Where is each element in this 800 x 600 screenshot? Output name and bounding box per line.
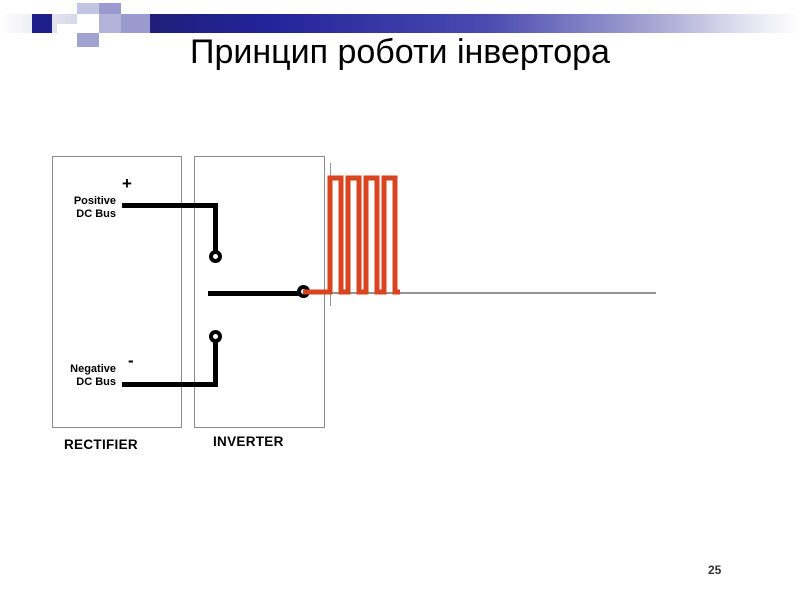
wire-negative-vertical (213, 336, 218, 387)
positive-dc-bus-label-line1: Positive (56, 195, 116, 208)
negative-dc-bus-label-line1: Negative (56, 363, 116, 376)
wire-positive-vertical (213, 203, 218, 256)
positive-dc-bus-label-line2: DC Bus (56, 208, 116, 221)
page-number: 25 (708, 563, 721, 577)
wire-output-horizontal (208, 291, 303, 296)
wire-positive-horizontal (122, 203, 218, 208)
terminal-node-positive (209, 250, 222, 263)
plus-sign-icon: + (122, 175, 132, 192)
terminal-node-negative (209, 330, 222, 343)
positive-dc-bus-label: Positive DC Bus (56, 195, 116, 221)
pwm-output-waveform (300, 170, 400, 300)
pwm-waveform-path (303, 178, 400, 292)
wire-negative-horizontal (122, 382, 218, 387)
inverter-principle-diagram: Positive DC Bus Negative DC Bus + - RECT… (0, 0, 800, 600)
minus-sign-icon: - (128, 352, 134, 369)
inverter-caption: INVERTER (213, 434, 284, 449)
rectifier-caption: RECTIFIER (64, 437, 138, 452)
negative-dc-bus-label: Negative DC Bus (56, 363, 116, 389)
negative-dc-bus-label-line2: DC Bus (56, 376, 116, 389)
